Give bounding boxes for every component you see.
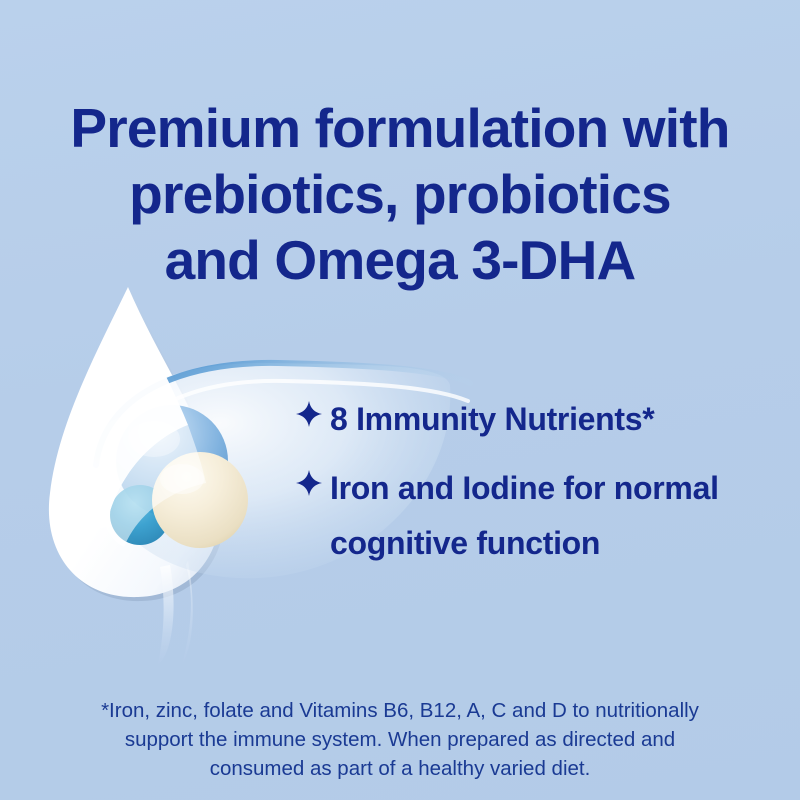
benefit-label: Iron and Iodine for normal cognitive fun… (330, 461, 776, 571)
cream-sphere (152, 452, 248, 548)
list-item: 8 Immunity Nutrients* (296, 392, 776, 447)
droplet-shape (49, 287, 225, 601)
page-title: Premium formulation with prebiotics, pro… (0, 95, 800, 293)
nutrient-spheres (110, 405, 248, 548)
product-benefits-banner: Premium formulation with prebiotics, pro… (0, 0, 800, 800)
four-pointed-star-icon (296, 461, 330, 505)
footnote-disclaimer: *Iron, zinc, folate and Vitamins B6, B12… (20, 696, 780, 783)
benefits-list: 8 Immunity Nutrients* Iron and Iodine fo… (296, 392, 776, 585)
benefit-label: 8 Immunity Nutrients* (330, 392, 654, 447)
four-pointed-star-icon (296, 392, 330, 436)
droplet-tail (158, 565, 174, 665)
blue-sphere (116, 405, 228, 517)
teal-dot (110, 485, 170, 545)
list-item: Iron and Iodine for normal cognitive fun… (296, 461, 776, 571)
